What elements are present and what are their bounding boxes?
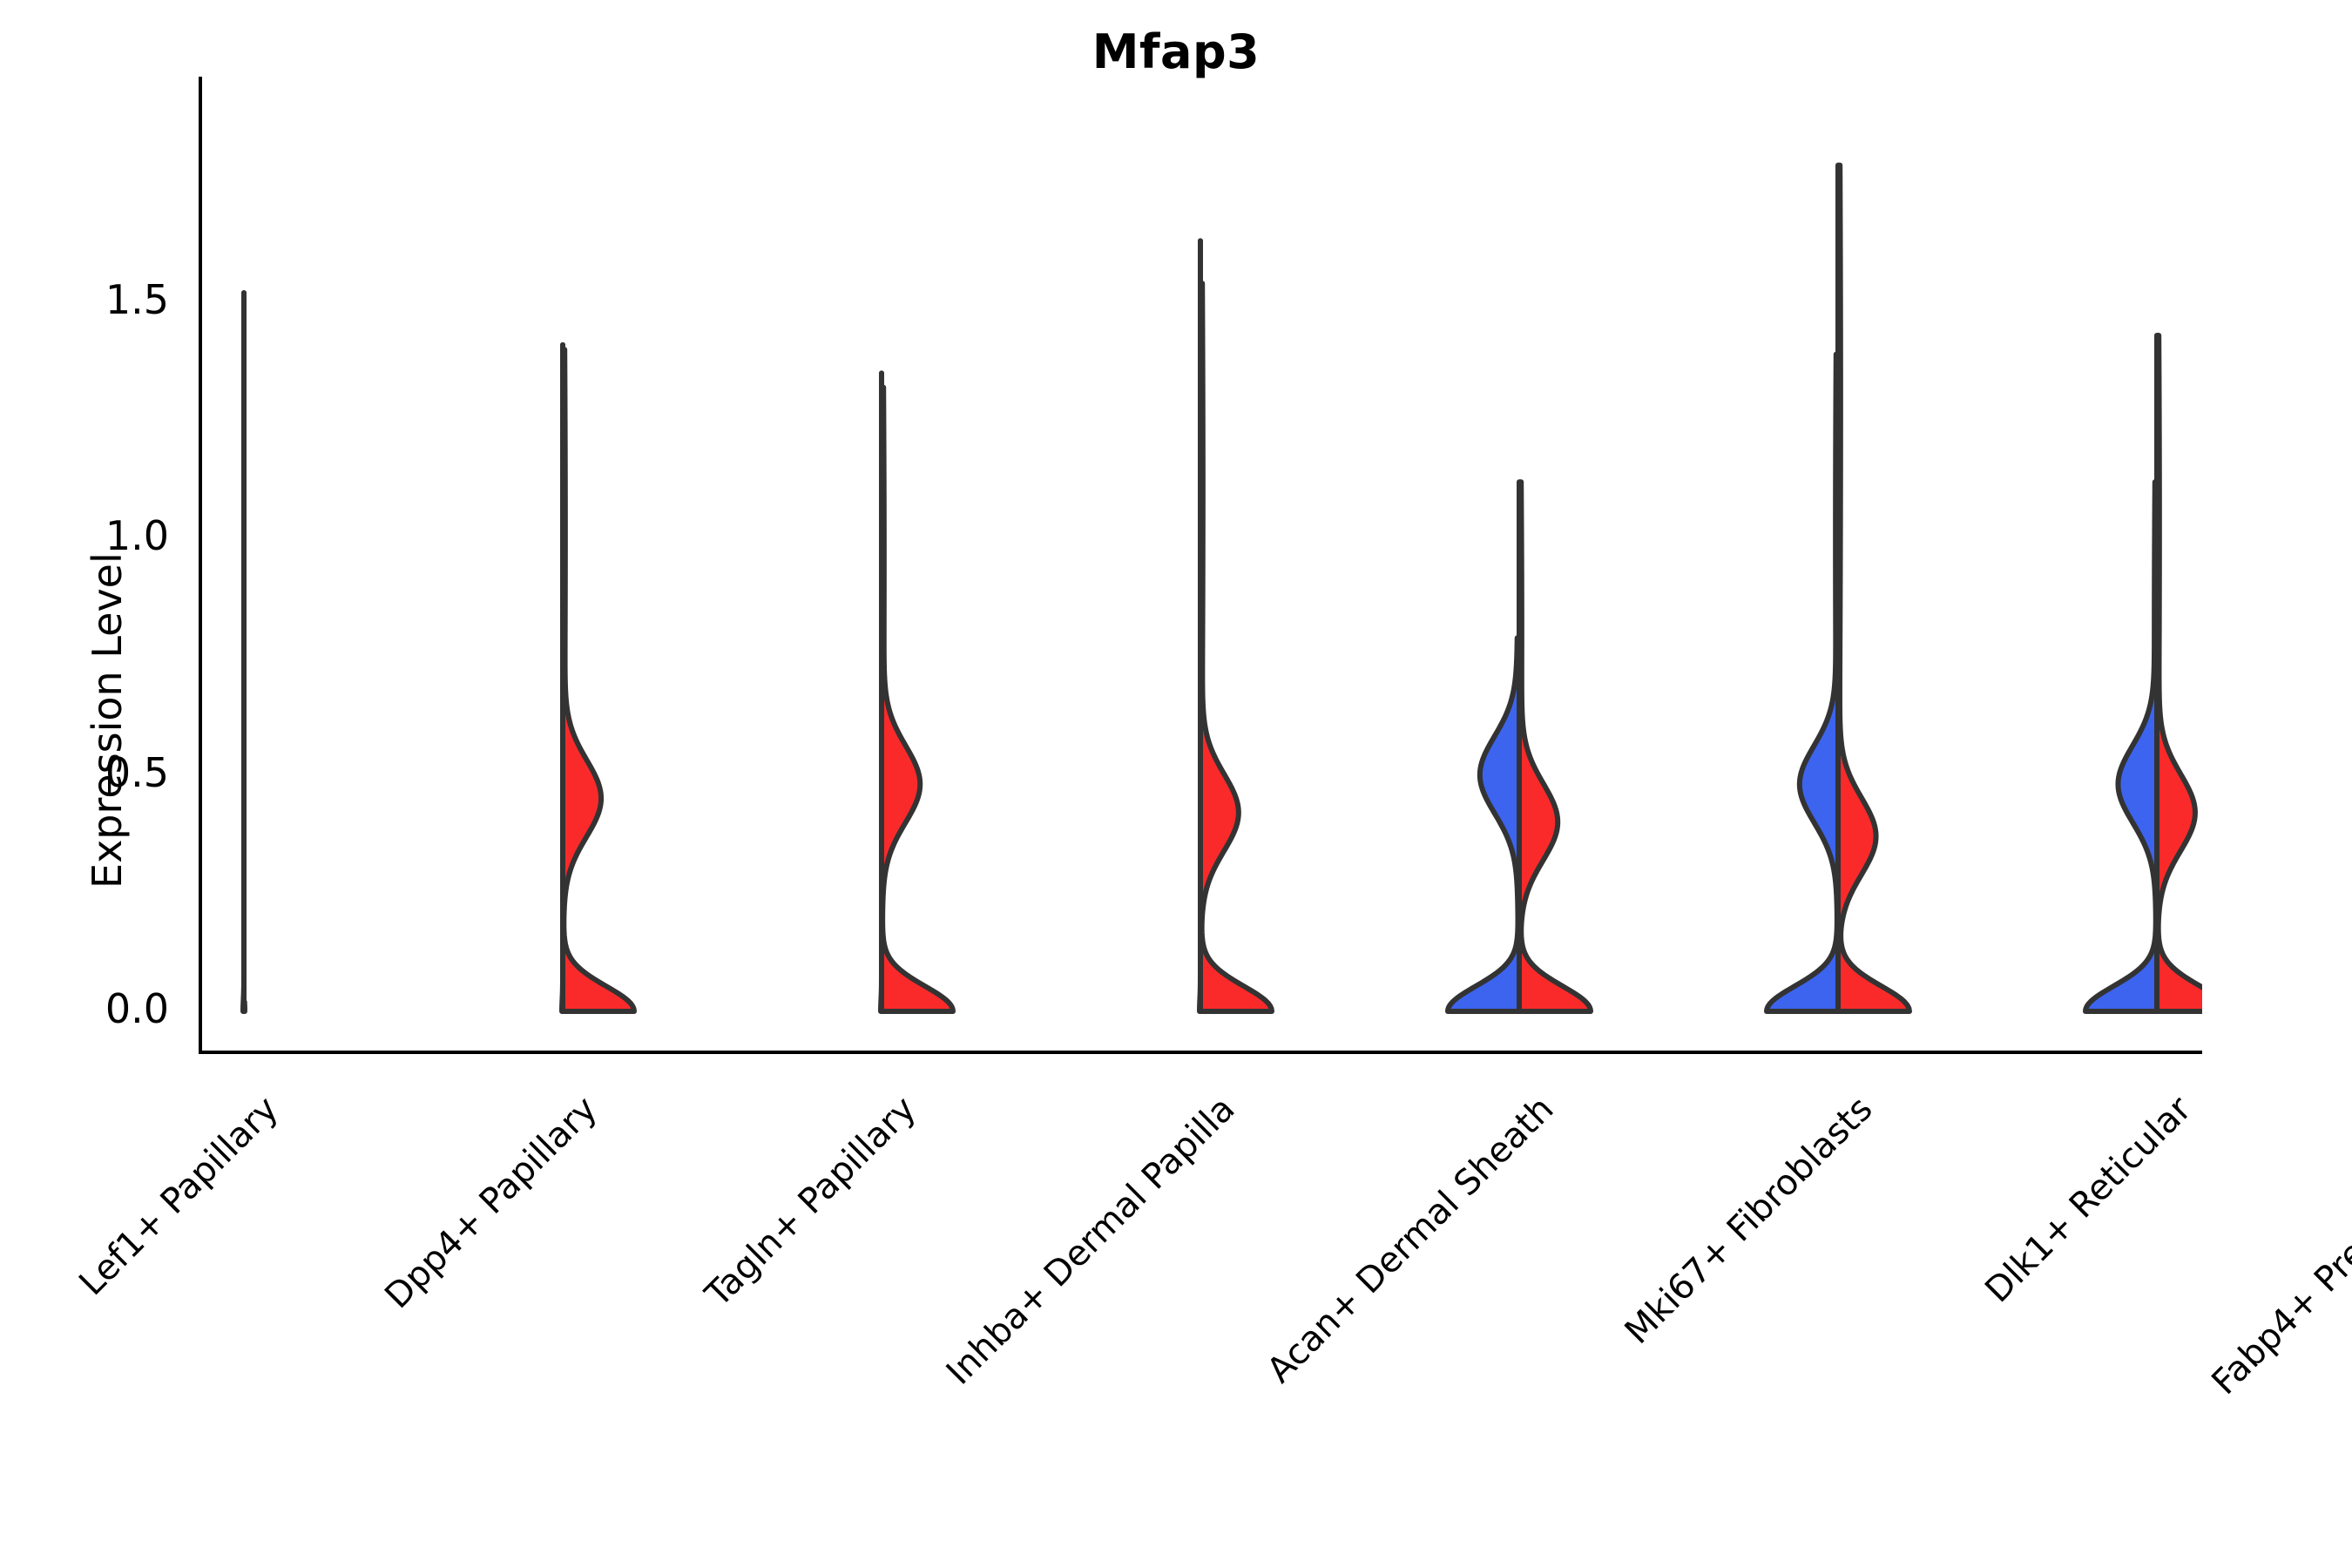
violin-blue-6 [2085,482,2157,1011]
x-tick-label-5: Mki67+ Fibroblasts [1618,1089,1881,1352]
violin-red-5 [1838,166,1909,1011]
violin-red-2 [882,388,953,1011]
violin-blue-5 [1767,355,1838,1011]
violin-chart-svg [199,77,2202,1054]
x-tick-label-2: Tagln+ Papillary [698,1089,923,1315]
x-tick-label-7: Fabp4+ Pre-Adipocytes [2204,1089,2352,1402]
x-tick-label-3: Inhba+ Dermal Papilla [939,1089,1243,1393]
violin-red-3 [1200,283,1272,1011]
violin-plot-figure: Mfap3 Expression Level 0.00.51.01.5 Lef1… [0,0,2352,1568]
y-tick-label-0: 0.0 [30,985,169,1032]
violin-red-6 [2157,335,2202,1011]
x-tick-label-1: Dpp4+ Papillary [377,1089,605,1316]
plot-area [199,77,2202,1054]
page-title: Mfap3 [0,24,2352,79]
x-tick-label-6: Dlk1+ Reticular [1977,1089,2199,1310]
y-tick-label-2: 1.0 [30,512,169,559]
violin-red-4 [1519,482,1591,1011]
x-tick-label-0: Lef1+ Papillary [71,1089,286,1303]
y-tick-label-3: 1.5 [30,276,169,323]
y-tick-label-1: 0.5 [30,749,169,796]
x-tick-label-4: Acan+ Dermal Sheath [1260,1089,1562,1391]
violin-red-1 [563,349,634,1011]
violin-blue-4 [1448,638,1519,1011]
